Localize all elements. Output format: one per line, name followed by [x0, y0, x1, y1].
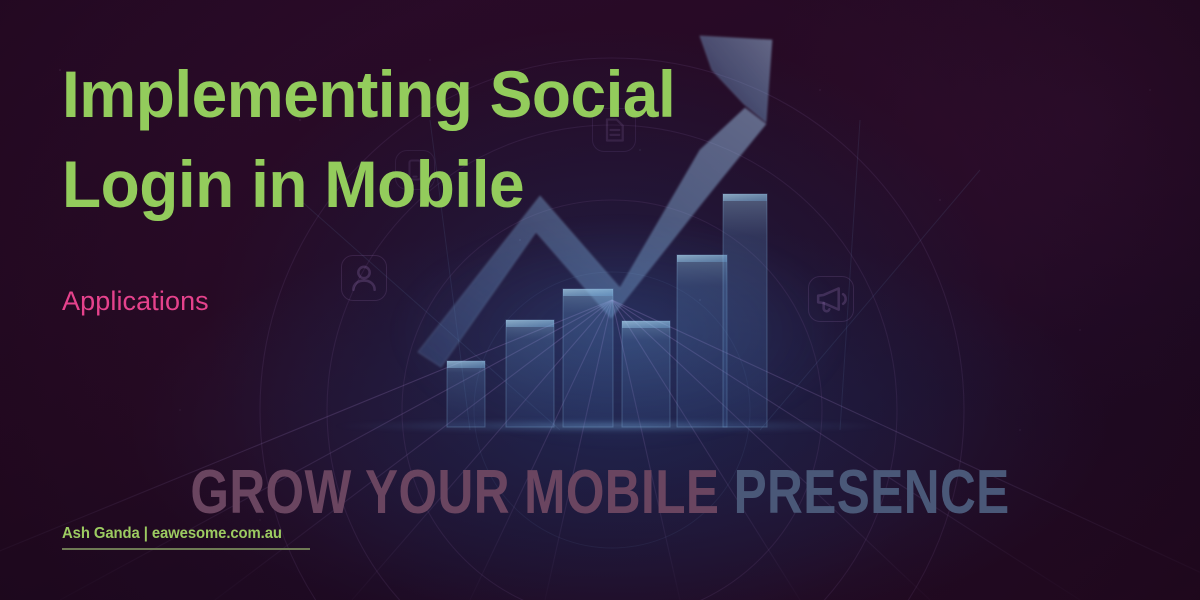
footer-credit: Ash Ganda | eawesome.com.au [62, 524, 312, 550]
user-profile-icon [341, 255, 387, 301]
page-title: Implementing Social Login in Mobile [62, 50, 799, 230]
page-title-line-2: Login in Mobile [62, 140, 799, 230]
page-title-line-1: Implementing Social [62, 50, 799, 140]
backdrop-wordmark: GROW YOUR MOBILE PRESENCE [120, 462, 1080, 524]
footer-credit-text: Ash Ganda | eawesome.com.au [62, 524, 302, 543]
backdrop-wordmark-part-one: GROW YOUR MOBILE [190, 458, 719, 527]
footer-divider [62, 548, 310, 550]
presentation-slide: GROW YOUR MOBILE PRESENCE Implementing S… [0, 0, 1200, 600]
page-subtitle: Applications [62, 285, 209, 317]
backdrop-wordmark-part-two: PRESENCE [734, 458, 1010, 527]
megaphone-icon [808, 276, 854, 322]
